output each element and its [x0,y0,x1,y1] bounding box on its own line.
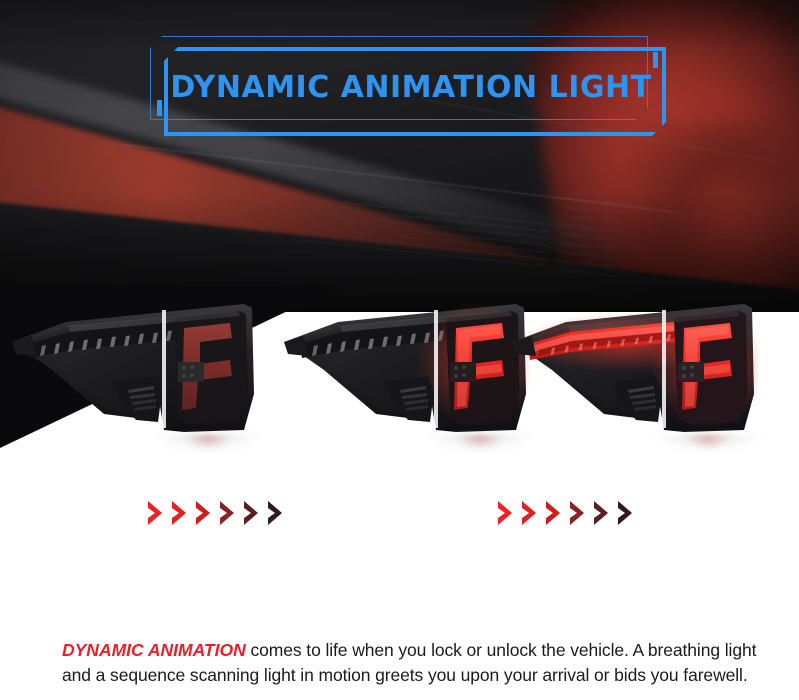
chevron-right-icon [146,500,169,526]
chevron-right-icon [242,500,265,526]
product-stage [0,296,799,486]
chevron-right-icon [170,500,193,526]
tail-light-red-reflection-1 [182,436,234,470]
chevron-right-icon [266,500,289,526]
tail-light-stage-1 [8,298,258,448]
chevron-right-icon [568,500,591,526]
animation-arrow-group-1 [146,500,289,526]
chevron-right-icon [592,500,615,526]
banner-tick-left [157,100,162,116]
chevron-right-icon [496,500,519,526]
feature-caption: DYNAMIC ANIMATION comes to life when you… [62,638,762,688]
product-feature-page: DYNAMIC ANIMATION LIGHT [0,0,799,700]
chevron-right-icon [520,500,543,526]
chevron-right-icon [544,500,567,526]
caption-lead: DYNAMIC ANIMATION [62,640,246,660]
tail-light-stage-2 [280,298,530,448]
animation-arrow-group-2 [496,500,639,526]
chevron-right-icon [218,500,241,526]
tail-light-red-reflection-2 [454,436,506,470]
banner-title: DYNAMIC ANIMATION LIGHT [164,47,658,128]
chevron-right-icon [194,500,217,526]
title-banner: DYNAMIC ANIMATION LIGHT [150,36,670,140]
tail-light-stage-3 [508,298,758,448]
tail-light-red-reflection-3 [682,436,734,470]
chevron-right-icon [616,500,639,526]
